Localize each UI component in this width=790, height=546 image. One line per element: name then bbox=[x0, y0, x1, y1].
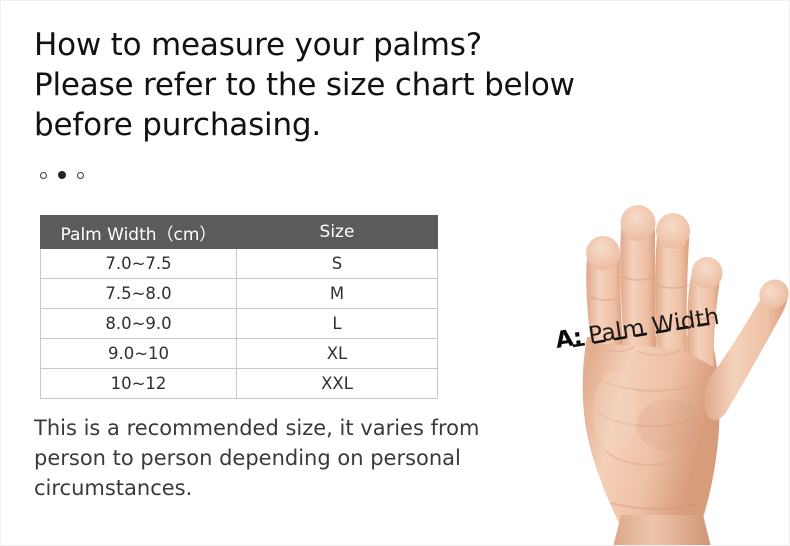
carousel-pagination-dots[interactable] bbox=[40, 171, 84, 179]
fingertip-pinky bbox=[692, 257, 723, 289]
annotation-marker-a: A: bbox=[554, 324, 584, 354]
carousel-dot-2-active[interactable] bbox=[58, 171, 66, 179]
cell-size: S bbox=[237, 249, 438, 279]
table-row: 7.0~7.5 S bbox=[41, 249, 438, 279]
cell-size: XXL bbox=[237, 369, 438, 399]
carousel-dot-1[interactable] bbox=[40, 172, 47, 179]
column-header-palm-width: Palm Width（cm） bbox=[41, 216, 237, 249]
page-title-line-1: How to measure your palms? bbox=[34, 25, 634, 65]
table-header-row: Palm Width（cm） Size bbox=[41, 216, 438, 249]
cell-palm-width: 10~12 bbox=[41, 369, 237, 399]
palm-shadow bbox=[637, 399, 701, 451]
table-row: 8.0~9.0 L bbox=[41, 309, 438, 339]
size-guide-page: How to measure your palms? Please refer … bbox=[0, 0, 790, 546]
page-title-line-2: Please refer to the size chart below bbox=[34, 65, 634, 105]
cell-size: M bbox=[237, 279, 438, 309]
table-row: 10~12 XXL bbox=[41, 369, 438, 399]
disclaimer-line-3: circumstances. bbox=[34, 473, 554, 503]
cell-palm-width: 8.0~9.0 bbox=[41, 309, 237, 339]
disclaimer-text: This is a recommended size, it varies fr… bbox=[34, 413, 554, 503]
disclaimer-line-1: This is a recommended size, it varies fr… bbox=[34, 413, 554, 443]
table-row: 7.5~8.0 M bbox=[41, 279, 438, 309]
thenar-highlight bbox=[593, 371, 637, 451]
cell-palm-width: 9.0~10 bbox=[41, 339, 237, 369]
cell-palm-width: 7.0~7.5 bbox=[41, 249, 237, 279]
cell-size: XL bbox=[237, 339, 438, 369]
fingertip-index bbox=[586, 236, 620, 270]
cell-palm-width: 7.5~8.0 bbox=[41, 279, 237, 309]
fingertip-ring bbox=[656, 213, 690, 249]
carousel-dot-3[interactable] bbox=[77, 172, 84, 179]
table-row: 9.0~10 XL bbox=[41, 339, 438, 369]
fingertip-middle bbox=[621, 205, 656, 241]
wrist-shape bbox=[613, 515, 711, 546]
cell-size: L bbox=[237, 309, 438, 339]
column-header-size: Size bbox=[237, 216, 438, 249]
size-chart-table: Palm Width（cm） Size 7.0~7.5 S 7.5~8.0 M … bbox=[40, 215, 438, 399]
disclaimer-line-2: person to person depending on personal bbox=[34, 443, 554, 473]
